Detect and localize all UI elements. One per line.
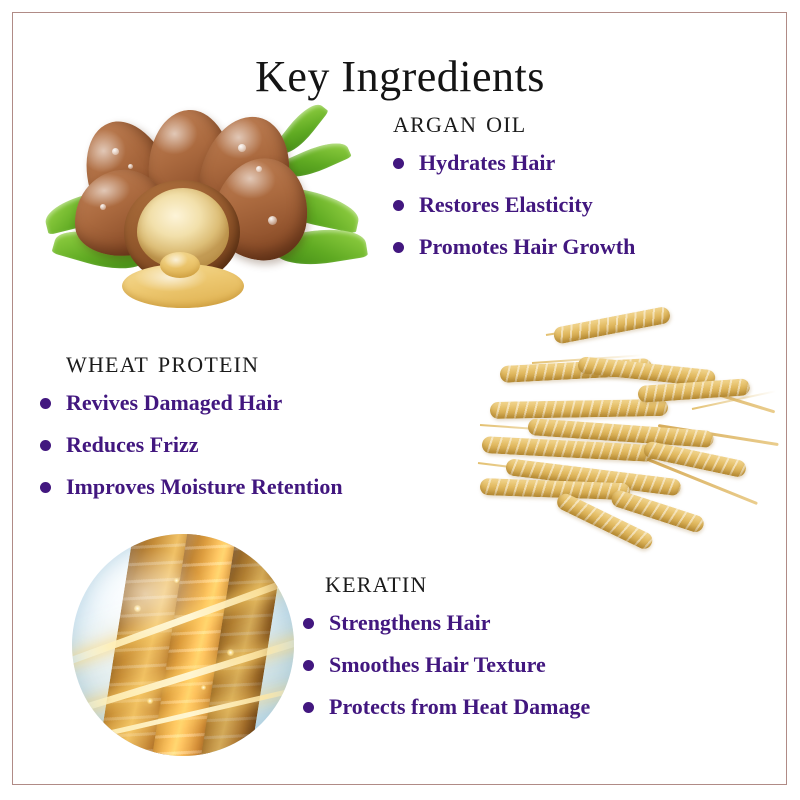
bullet-icon — [40, 482, 51, 493]
ingredient-heading-wheat-protein: Wheat protein — [40, 344, 343, 380]
benefit-item: Improves Moisture Retention — [40, 474, 343, 500]
benefit-list-keratin: Strengthens Hair Smoothes Hair Texture P… — [303, 610, 590, 720]
infographic-page: Key Ingredients — [0, 0, 800, 800]
page-title: Key Ingredients — [0, 53, 800, 101]
bullet-icon — [393, 200, 404, 211]
bullet-icon — [303, 702, 314, 713]
ingredient-heading-keratin: Keratin — [303, 564, 590, 600]
benefit-label: Restores Elasticity — [419, 192, 593, 217]
benefit-label: Reduces Frizz — [66, 432, 199, 457]
bullet-icon — [40, 398, 51, 409]
dew-drop — [268, 216, 277, 225]
benefit-label: Hydrates Hair — [419, 150, 555, 175]
wheat-spike — [490, 399, 668, 419]
benefit-item: Restores Elasticity — [393, 192, 635, 218]
dew-drop — [100, 204, 106, 210]
ingredient-block-wheat-protein: Wheat protein Revives Damaged Hair Reduc… — [40, 344, 343, 500]
ingredient-heading-argan-oil: Argan oil — [393, 104, 635, 140]
benefit-label: Smoothes Hair Texture — [329, 652, 546, 677]
benefit-list-argan-oil: Hydrates Hair Restores Elasticity Promot… — [393, 150, 635, 260]
dew-drop — [256, 166, 262, 172]
dew-drop — [238, 144, 246, 152]
benefit-label: Improves Moisture Retention — [66, 474, 343, 499]
dew-drop — [128, 164, 133, 169]
bullet-icon — [303, 660, 314, 671]
benefit-item: Revives Damaged Hair — [40, 390, 343, 416]
wheat-spike — [552, 306, 671, 345]
bullet-icon — [303, 618, 314, 629]
benefit-item: Strengthens Hair — [303, 610, 590, 636]
bullet-icon — [40, 440, 51, 451]
benefit-item: Promotes Hair Growth — [393, 234, 635, 260]
benefit-label: Promotes Hair Growth — [419, 234, 635, 259]
wheat-stalks-image — [462, 312, 784, 538]
benefit-item: Protects from Heat Damage — [303, 694, 590, 720]
benefit-label: Strengthens Hair — [329, 610, 491, 635]
sparkle-icon — [201, 685, 206, 690]
benefit-label: Revives Damaged Hair — [66, 390, 282, 415]
benefit-item: Reduces Frizz — [40, 432, 343, 458]
benefit-item: Smoothes Hair Texture — [303, 652, 590, 678]
benefit-label: Protects from Heat Damage — [329, 694, 590, 719]
keratin-hair-strand-image — [72, 534, 294, 756]
bullet-icon — [393, 242, 404, 253]
dew-drop — [112, 148, 119, 155]
bullet-icon — [393, 158, 404, 169]
ingredient-block-keratin: Keratin Strengthens Hair Smoothes Hair T… — [303, 564, 590, 720]
benefit-list-wheat-protein: Revives Damaged Hair Reduces Frizz Impro… — [40, 390, 343, 500]
ingredient-block-argan-oil: Argan oil Hydrates Hair Restores Elastic… — [393, 104, 635, 260]
benefit-item: Hydrates Hair — [393, 150, 635, 176]
argan-nuts-image — [42, 96, 372, 314]
argan-oil-drip — [160, 252, 200, 278]
sphere-highlight — [85, 547, 205, 640]
